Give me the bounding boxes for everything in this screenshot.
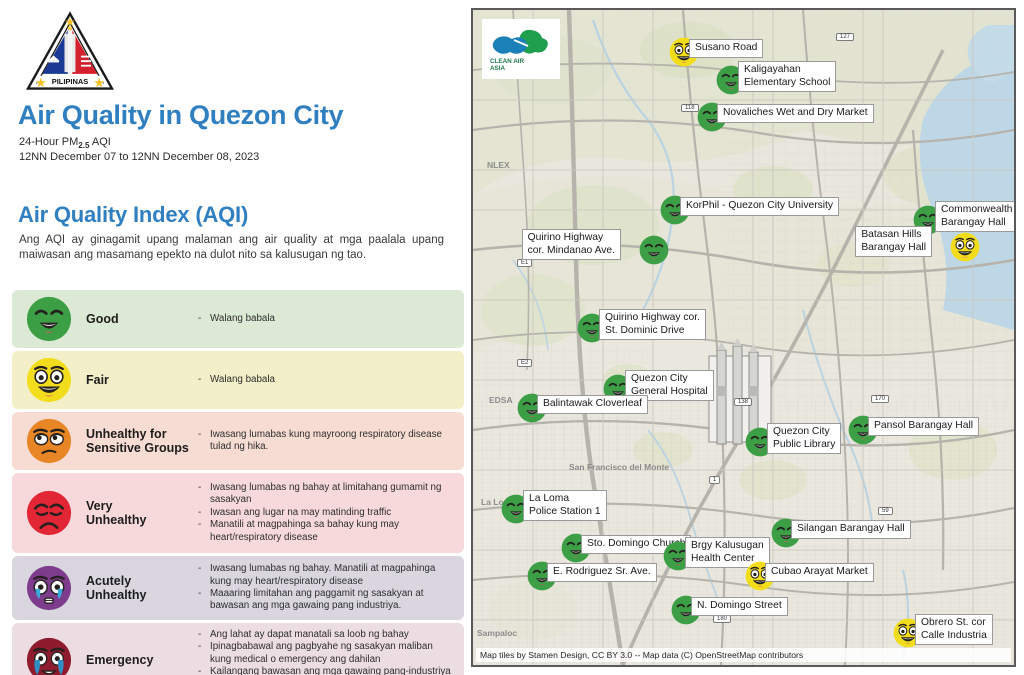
advice-dash: - [198, 429, 210, 454]
aqi-label-unhealthy-for-sensitive-groups: Unhealthy forSensitive Groups [86, 427, 198, 455]
aqi-label-fair: Fair [86, 373, 198, 387]
usg-face [12, 418, 86, 464]
advice-dash: - [198, 629, 210, 641]
advice-item: -Iwasang lumabas ng bahay. Manatili at m… [198, 563, 456, 588]
advice-item: -Walang babala [198, 313, 456, 325]
period-subtitle: 12NN December 07 to 12NN December 08, 20… [19, 151, 259, 163]
map-marker-label: Kaligayahan Elementary School [738, 61, 836, 92]
advice-text: Maaaring limitahan ang paggamit ng sasak… [210, 588, 456, 613]
map-marker-label: Cubao Arayat Market [765, 563, 874, 582]
fair-face-marker-icon[interactable] [950, 232, 980, 262]
aqi-row-acutely-unhealthy: AcutelyUnhealthy-Iwasang lumabas ng baha… [12, 556, 464, 620]
map-marker-label: E. Rodriguez Sr. Ave. [547, 563, 657, 582]
advice-text: Iwasan ang lugar na may matinding traffi… [210, 507, 456, 519]
map-route-shield: 127 [836, 33, 854, 41]
metric-subscript: 2.5 [78, 141, 89, 150]
advice-dash: - [198, 563, 210, 588]
good-face [12, 296, 86, 342]
map-route-shield: 170 [871, 395, 889, 403]
advice-text: Manatili at magpahinga sa bahay kung may… [210, 519, 456, 544]
aqi-label-very-unhealthy: VeryUnhealthy [86, 499, 198, 527]
map-marker-label: Quezon City Public Library [767, 423, 841, 454]
infographic-page: PILIPINAS LUNGSOD Air Quality in Quezon … [0, 0, 1024, 675]
map-marker-label: KorPhil - Quezon City University [680, 197, 839, 216]
advice-item: -Manatili at magpahinga sa bahay kung ma… [198, 519, 456, 544]
map-road-label: NLEX [487, 160, 510, 170]
map-route-shield: E1 [517, 259, 532, 267]
advice-dash: - [198, 374, 210, 386]
advice-dash: - [198, 588, 210, 613]
advice-text: Iwasang lumabas kung mayroong respirator… [210, 429, 456, 454]
advice-text: Iwasang lumabas ng bahay. Manatili at ma… [210, 563, 456, 588]
map-marker-label: Balintawak Cloverleaf [537, 395, 648, 414]
map-marker-label: Commonwealth Barangay Hall [935, 201, 1016, 232]
advice-dash: - [198, 519, 210, 544]
map-marker-label: Quirino Highway cor. Mindanao Ave. [522, 229, 621, 260]
map-route-shield: 138 [734, 398, 752, 406]
fair-face [12, 357, 86, 403]
advice-text: Walang babala [210, 313, 456, 325]
map-attribution: Map tiles by Stamen Design, CC BY 3.0 --… [476, 648, 1011, 662]
seal-bottom-text: PILIPINAS [52, 77, 89, 86]
map-route-shield: E2 [517, 359, 532, 367]
map-road-label: San Francisco del Monte [569, 462, 669, 472]
advice-item: -Maaaring limitahan ang paggamit ng sasa… [198, 588, 456, 613]
advice-dash: - [198, 641, 210, 666]
map-marker-label: N. Domingo Street [691, 597, 788, 616]
emergency-face [12, 637, 86, 675]
logo-line-1: CLEAN AIR [482, 58, 560, 65]
advice-text: Walang babala [210, 374, 456, 386]
map-marker-label: Novaliches Wet and Dry Market [717, 104, 874, 123]
map-marker-label: Pansol Barangay Hall [868, 417, 979, 436]
map-road-label: Sampaloc [477, 628, 517, 638]
cloud-infinity-icon [490, 28, 552, 58]
quezon-city-seal: PILIPINAS LUNGSOD [24, 10, 116, 94]
aqi-row-very-unhealthy: VeryUnhealthy-Iwasang lumabas ng bahay a… [12, 473, 464, 553]
aqi-label-acutely-unhealthy: AcutelyUnhealthy [86, 574, 198, 602]
advice-item: -Ang lahat ay dapat manatali sa loob ng … [198, 629, 456, 641]
advice-item: -Walang babala [198, 374, 456, 386]
advice-item: -Iwasan ang lugar na may matinding traff… [198, 507, 456, 519]
map-marker-label: Batasan Hills Barangay Hall [855, 226, 932, 257]
map-route-shield: 1 [709, 476, 720, 484]
map-marker-label: Obrero St. cor Calle Industria [915, 614, 993, 645]
map-route-shield: 180 [713, 615, 731, 623]
aqi-advice-very-unhealthy: -Iwasang lumabas ng bahay at limitahang … [198, 482, 464, 544]
map-panel[interactable]: NLEXEDSASan Francisco del MonteLa LomaSa… [471, 8, 1016, 667]
acutely-unhealthy-face [12, 565, 86, 611]
advice-text: Kailangang bawasan ang mga gawaing pang-… [210, 666, 456, 675]
aqi-section-title: Air Quality Index (AQI) [18, 202, 248, 228]
aqi-row-unhealthy-for-sensitive-groups: Unhealthy forSensitive Groups-Iwasang lu… [12, 412, 464, 470]
very-unhealthy-face [12, 490, 86, 536]
metric-suffix: AQI [89, 136, 110, 148]
aqi-label-good: Good [86, 312, 198, 326]
advice-dash: - [198, 482, 210, 507]
advice-item: -Iwasang lumabas kung mayroong respirato… [198, 429, 456, 454]
advice-item: -Iwasang lumabas ng bahay at limitahang … [198, 482, 456, 507]
aqi-row-good: Good-Walang babala [12, 290, 464, 348]
map-marker-label: La Loma Police Station 1 [523, 490, 607, 521]
aqi-advice-fair: -Walang babala [198, 374, 464, 386]
advice-item: -Ipinagbabawal ang pagbyahe ng sasakyan … [198, 641, 456, 666]
aqi-advice-acutely-unhealthy: -Iwasang lumabas ng bahay. Manatili at m… [198, 563, 464, 613]
advice-dash: - [198, 313, 210, 325]
left-panel: PILIPINAS LUNGSOD Air Quality in Quezon … [0, 0, 470, 675]
aqi-advice-good: -Walang babala [198, 313, 464, 325]
advice-item: -Kailangang bawasan ang mga gawaing pang… [198, 666, 456, 675]
metric-subtitle: 24-Hour PM2.5 AQI [19, 136, 111, 150]
aqi-advice-emergency: -Ang lahat ay dapat manatali sa loob ng … [198, 629, 464, 675]
metric-prefix: 24-Hour PM [19, 136, 78, 148]
map-marker-label: Silangan Barangay Hall [791, 520, 911, 539]
map-route-shield: 59 [878, 507, 893, 515]
map-marker-label: Susano Road [689, 39, 763, 58]
advice-text: Iwasang lumabas ng bahay at limitahang g… [210, 482, 456, 507]
advice-text: Ipinagbabawal ang pagbyahe ng sasakyan m… [210, 641, 456, 666]
seal-left-text: LUNGSOD [70, 93, 71, 94]
aqi-table: Good-Walang babalaFair-Walang babalaUnhe… [12, 290, 464, 675]
logo-line-2: ASIA [482, 65, 560, 72]
aqi-row-fair: Fair-Walang babala [12, 351, 464, 409]
map-road-label: EDSA [489, 395, 513, 405]
clean-air-asia-logo: CLEAN AIR ASIA [482, 19, 560, 79]
advice-text: Ang lahat ay dapat manatali sa loob ng b… [210, 629, 456, 641]
aqi-row-emergency: Emergency-Ang lahat ay dapat manatali sa… [12, 623, 464, 675]
map-route-shield: 118 [681, 104, 699, 112]
aqi-label-emergency: Emergency [86, 653, 198, 667]
good-face-marker-icon[interactable] [639, 235, 669, 265]
advice-dash: - [198, 666, 210, 675]
aqi-description: Ang AQI ay ginagamit upang malaman ang a… [19, 233, 444, 263]
map-marker-label: Quirino Highway cor. St. Dominic Drive [599, 309, 706, 340]
aqi-advice-unhealthy-for-sensitive-groups: -Iwasang lumabas kung mayroong respirato… [198, 429, 464, 454]
page-title: Air Quality in Quezon City [18, 100, 343, 131]
advice-dash: - [198, 507, 210, 519]
